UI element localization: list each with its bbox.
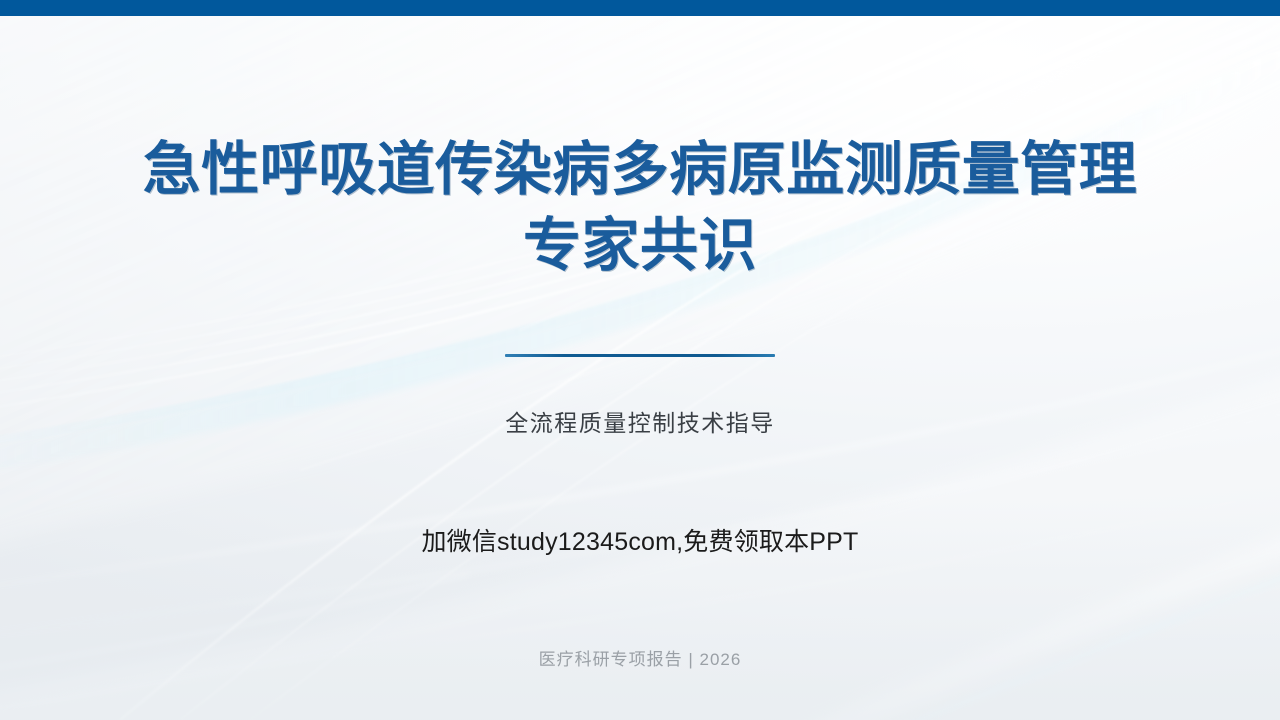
title-line-1: 急性呼吸道传染病多病原监测质量管理 xyxy=(0,132,1280,208)
subtitle: 全流程质量控制技术指导 xyxy=(0,406,1280,440)
footer-text: 医疗科研专项报告 | 2026 xyxy=(0,648,1280,672)
slide-content: 急性呼吸道传染病多病原监测质量管理 专家共识 全流程质量控制技术指导 加微信st… xyxy=(0,0,1280,720)
page-title: 急性呼吸道传染病多病原监测质量管理 专家共识 xyxy=(0,132,1280,284)
promo-text: 加微信study12345com,免费领取本PPT xyxy=(0,524,1280,560)
title-slide: 急性呼吸道传染病多病原监测质量管理 专家共识 全流程质量控制技术指导 加微信st… xyxy=(0,0,1280,720)
title-line-2: 专家共识 xyxy=(0,208,1280,284)
title-divider xyxy=(505,354,775,357)
